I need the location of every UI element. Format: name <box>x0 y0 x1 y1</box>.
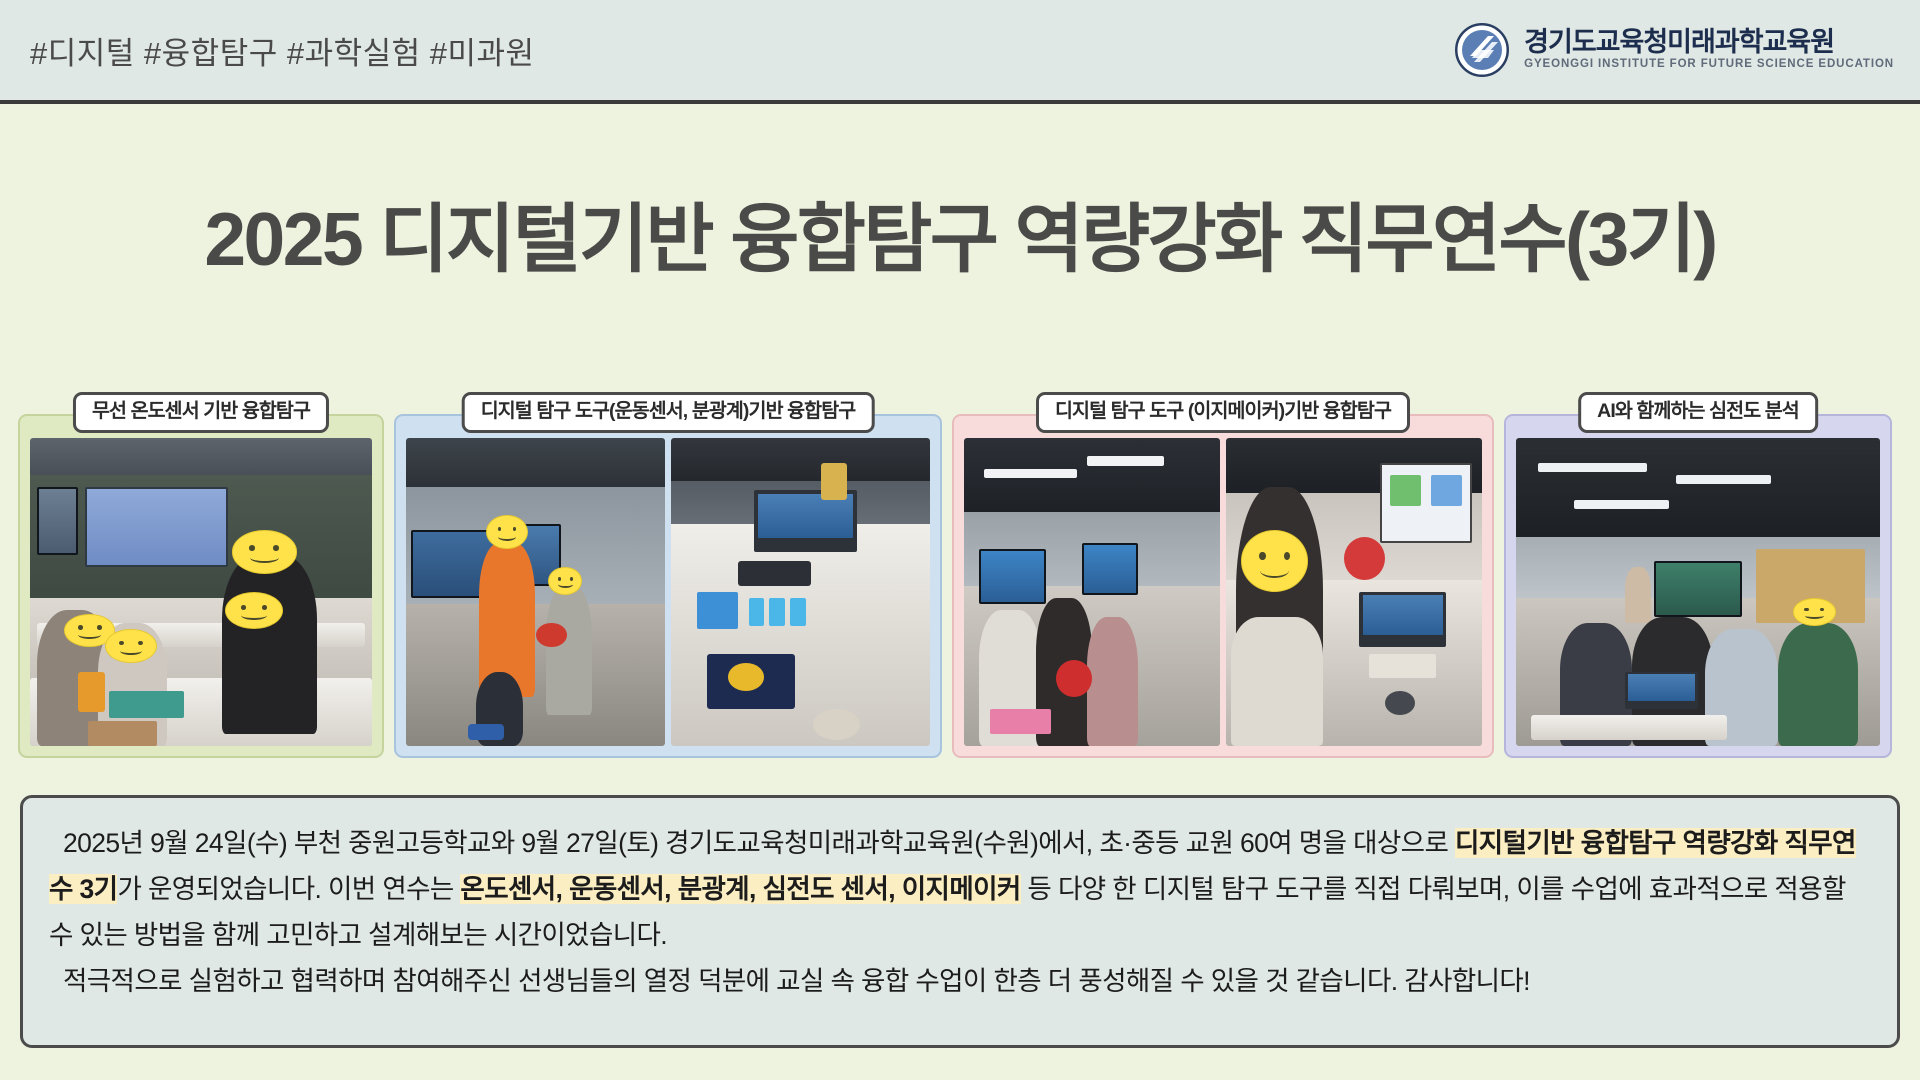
summary-caption-box: 2025년 9월 24일(수) 부천 중원고등학교와 9월 27일(토) 경기도… <box>20 795 1900 1048</box>
gyeonggi-institute-emblem-icon <box>1454 22 1510 78</box>
program-card: 디지털 탐구 도구(운동센서, 분광계)기반 융합탐구 <box>394 392 942 758</box>
page-header: #디지털 #융합탐구 #과학실험 #미과원 경기도교육청미래과학교육원 GYEO… <box>0 0 1920 104</box>
caption-text-b: 가 운영되었습니다. 이번 연수는 <box>117 874 460 904</box>
caption-paragraph-1: 2025년 9월 24일(수) 부천 중원고등학교와 9월 27일(토) 경기도… <box>49 820 1871 958</box>
brand-logo: 경기도교육청미래과학교육원 GYEONGGI INSTITUTE FOR FUT… <box>1454 22 1894 78</box>
card-label: 디지털 탐구 도구 (이지메이커)기반 융합탐구 <box>1036 392 1410 433</box>
brand-subtitle: GYEONGGI INSTITUTE FOR FUTURE SCIENCE ED… <box>1524 59 1894 71</box>
page-title: 2025 디지털기반 융합탐구 역량강화 직무연수(3기) <box>0 178 1920 287</box>
brand-text-block: 경기도교육청미래과학교육원 GYEONGGI INSTITUTE FOR FUT… <box>1524 29 1894 71</box>
program-card: 무선 온도센서 기반 융합탐구 <box>18 392 384 758</box>
hashtag-line: #디지털 #융합탐구 #과학실험 #미과원 <box>30 28 535 73</box>
program-card-row: 무선 온도센서 기반 융합탐구 <box>18 392 1902 758</box>
caption-paragraph-2: 적극적으로 실험하고 협력하며 참여해주신 선생님들의 열정 덕분에 교실 속 … <box>49 958 1871 1004</box>
card-photo-area <box>18 414 384 758</box>
instructor-demonstration-photo <box>406 438 665 746</box>
program-card: AI와 함께하는 심전도 분석 <box>1504 392 1892 758</box>
card-photo-area <box>394 414 942 758</box>
card-label: AI와 함께하는 심전도 분석 <box>1578 392 1818 433</box>
ecg-ai-session-classroom-photo <box>1516 438 1880 746</box>
caption-text-a: 2025년 9월 24일(수) 부천 중원고등학교와 9월 27일(토) 경기도… <box>63 828 1455 858</box>
lab-bench-spectrometer-photo <box>671 438 930 746</box>
program-card: 디지털 탐구 도구 (이지메이커)기반 융합탐구 <box>952 392 1494 758</box>
easymaker-hands-on-photo <box>1226 438 1482 746</box>
lecture-room-participants-photo <box>964 438 1220 746</box>
classroom-temperature-sensor-activity-photo <box>30 438 372 746</box>
card-photo-area <box>952 414 1494 758</box>
caption-highlight-tools: 온도센서, 운동센서, 분광계, 심전도 센서, 이지메이커 <box>460 874 1020 904</box>
brand-name: 경기도교육청미래과학교육원 <box>1524 29 1894 56</box>
card-label: 디지털 탐구 도구(운동센서, 분광계)기반 융합탐구 <box>462 392 875 433</box>
card-label: 무선 온도센서 기반 융합탐구 <box>73 392 329 433</box>
card-photo-area <box>1504 414 1892 758</box>
